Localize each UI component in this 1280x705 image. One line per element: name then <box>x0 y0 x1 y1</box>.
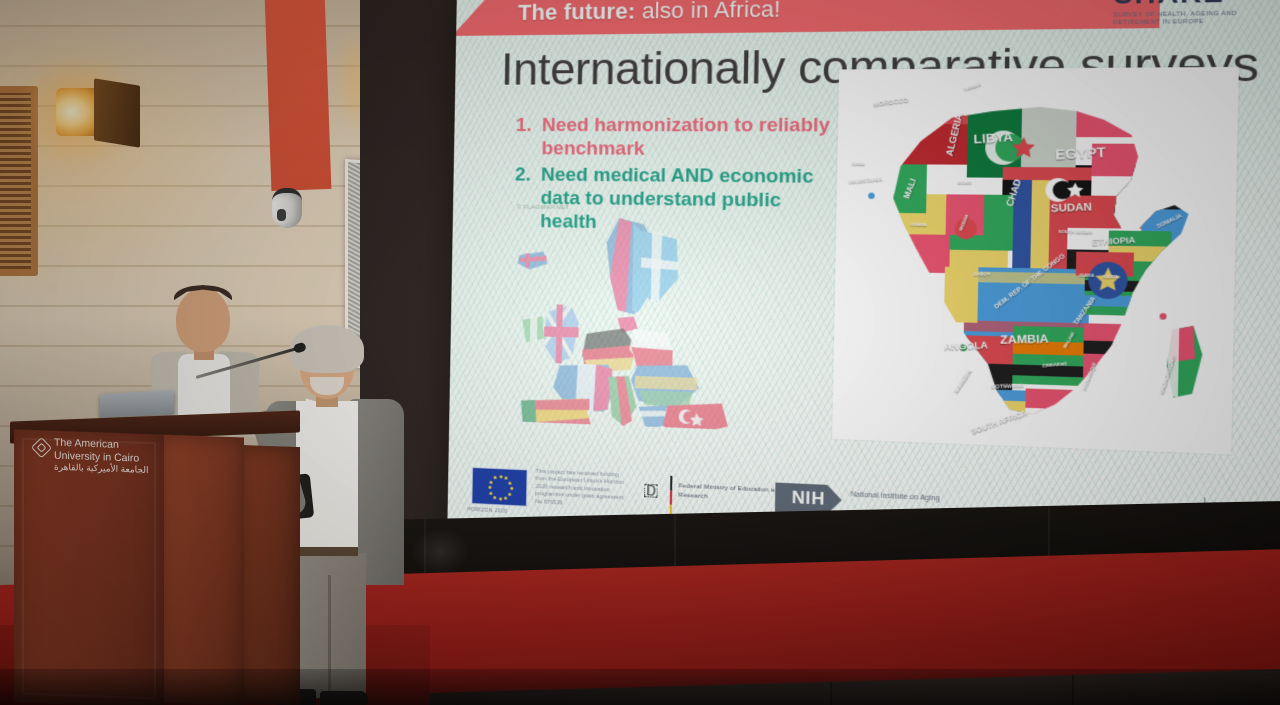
projection-screen: The future: also in Africa! SHAREERIC SU… <box>447 0 1280 585</box>
eu-horizon-caption: HORIZON 2020 <box>467 507 507 515</box>
head <box>176 288 230 352</box>
red-wall-panel <box>265 0 332 191</box>
eu-funding-text: This project has received funding from t… <box>535 469 629 511</box>
laptop-screen[interactable] <box>100 390 174 418</box>
foreground-shadow <box>0 669 1280 705</box>
share-dot-icon <box>1079 0 1085 3</box>
eu-star-icon <box>510 487 513 490</box>
africa-map-panel: MOROCCOALGERIATUNISIALIBYAEGYPTMAURITANI… <box>832 67 1239 455</box>
auc-logo: The American University in Cairo الجامعة… <box>34 436 154 488</box>
eu-star-icon <box>504 496 507 499</box>
conference-photo: The future: also in Africa! SHAREERIC SU… <box>0 0 1280 705</box>
band-normal-text: also in Africa! <box>635 0 781 24</box>
share-tagline: SURVEY OF HEALTH, AGEING AND RETIREMENT … <box>1113 10 1276 27</box>
eu-star-icon <box>508 481 511 484</box>
auc-name-arabic: الجامعة الأميركية بالقاهرة <box>54 462 148 476</box>
eu-star-icon <box>493 496 496 499</box>
eu-star-icon <box>499 497 502 500</box>
eu-star-icon <box>504 477 507 480</box>
bullet-number: 2. <box>515 163 531 186</box>
lectern-podium: The American University in Cairo الجامعة… <box>0 416 300 705</box>
podium-side-panel-right <box>238 445 300 705</box>
auc-name-english: The American University in Cairo <box>54 437 154 465</box>
share-wordmark: SHAREERIC SURVEY OF HEALTH, AGEING AND R… <box>1113 0 1277 28</box>
share-dot-icon <box>1065 7 1071 13</box>
bmbf-text: Federal Ministry of Education and Resear… <box>678 482 790 505</box>
share-logo-header: SHAREERIC SURVEY OF HEALTH, AGEING AND R… <box>1053 0 1276 29</box>
security-camera-icon <box>272 188 302 228</box>
auc-emblem-icon <box>31 437 52 458</box>
presentation-slide: The future: also in Africa! SHAREERIC SU… <box>447 0 1280 585</box>
band-bold-text: The future: <box>518 0 636 25</box>
german-eagle-icon: 🇩 <box>643 481 659 499</box>
slide-band-text: The future: also in Africa! <box>518 0 781 26</box>
wall-sconce-lamp-left <box>40 72 150 152</box>
europe-map-credit: © FLAGMAP.NET <box>516 205 569 212</box>
eu-star-icon <box>488 486 491 489</box>
bullet-item-1: 1. Need harmonization to reliably benchm… <box>511 114 834 162</box>
europe-map-svg <box>511 215 735 430</box>
eu-star-icon <box>489 491 492 494</box>
nih-text: National Institute on Aging <box>850 490 939 505</box>
bullet-text: Need harmonization to reliably benchmark <box>541 115 830 160</box>
share-dot-icon <box>1062 1 1068 7</box>
africa-map-svg <box>832 67 1239 455</box>
share-dot-icon <box>1055 7 1061 13</box>
lamp-housing <box>94 78 140 147</box>
eu-star-icon <box>499 475 502 478</box>
wall-vent-grille <box>0 86 38 276</box>
podium-side-panel-mid <box>158 434 244 705</box>
bullet-number: 1. <box>516 114 532 137</box>
share-dots-icon <box>1053 0 1113 23</box>
share-word-text: SHARE <box>1113 0 1225 10</box>
german-flag-rule <box>670 476 673 519</box>
eu-star-icon <box>494 476 497 479</box>
europe-flag-map: © FLAGMAP.NET <box>511 215 735 430</box>
eu-flag-icon <box>471 467 527 507</box>
belt <box>296 547 358 556</box>
eu-star-icon <box>508 492 511 495</box>
eu-star-icon <box>489 480 492 483</box>
share-dot-icon <box>1072 1 1078 7</box>
share-dot-icon <box>1058 12 1064 18</box>
